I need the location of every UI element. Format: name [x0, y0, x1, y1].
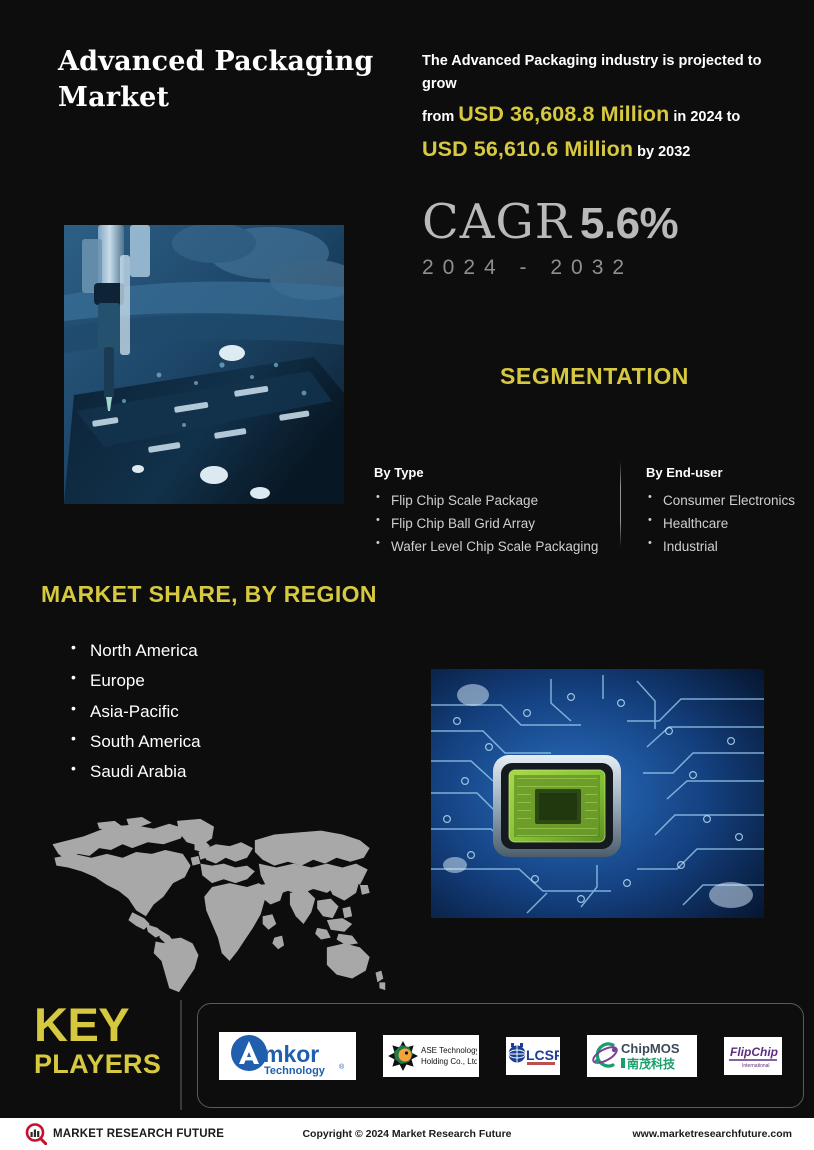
projection-statement: The Advanced Packaging industry is proje… [422, 50, 790, 167]
market-research-future-logo-icon [25, 1123, 47, 1145]
region-heading: MARKET SHARE, BY REGION [41, 581, 377, 608]
segmentation-column-by-end-user: By End-user Consumer Electronics Healthc… [646, 465, 796, 559]
svg-text:ASE Technology: ASE Technology [421, 1046, 477, 1055]
projection-end-label: by 2032 [637, 144, 690, 160]
segmentation-column-heading: By Type [374, 465, 614, 480]
projection-from-label: from [422, 109, 454, 125]
segmentation-item: Flip Chip Ball Grid Array [374, 512, 614, 535]
segmentation-column-by-type: By Type Flip Chip Scale Package Flip Chi… [374, 465, 614, 559]
microprocessor-illustration [431, 669, 764, 918]
logo-flipchip: FlipChip International [724, 1037, 782, 1075]
page-title: Advanced Packaging Market [58, 44, 398, 116]
svg-text:南茂科技: 南茂科技 [627, 1056, 676, 1071]
lcsp-logo-icon: LCSP [507, 1040, 559, 1072]
amkor-logo-icon: mkor Technology ® [223, 1034, 353, 1078]
cagr-block: CAGR5.6% 2024 - 2032 [422, 198, 678, 280]
svg-text:mkor: mkor [263, 1041, 319, 1067]
svg-text:Technology: Technology [264, 1065, 326, 1077]
microprocessor-photo [431, 669, 764, 918]
pcb-assembly-photo [64, 225, 344, 504]
projection-start-value: USD 36,608.8 Million [458, 102, 669, 126]
segmentation-item: Healthcare [646, 512, 796, 535]
svg-text:Holding Co., Ltd.: Holding Co., Ltd. [421, 1057, 477, 1066]
segmentation-item: Flip Chip Scale Package [374, 489, 614, 512]
key-players-word-bottom: PLAYERS [34, 1052, 161, 1077]
cagr-period: 2024 - 2032 [422, 256, 678, 280]
footer-brand: MARKET RESEARCH FUTURE [25, 1123, 224, 1145]
segmentation-item: Industrial [646, 535, 796, 558]
key-players-word-top: KEY [34, 1003, 161, 1046]
logo-chipmos: ChipMOS 南茂科技 [587, 1035, 697, 1077]
segmentation-heading: SEGMENTATION [422, 363, 767, 390]
svg-text:®: ® [339, 1063, 345, 1071]
cagr-value: 5.6% [580, 199, 678, 248]
logo-ase-technology: ASE Technology Holding Co., Ltd. [383, 1035, 479, 1077]
region-list: North America Europe Asia-Pacific South … [68, 636, 201, 787]
svg-text:International: International [742, 1063, 770, 1069]
region-list-item: South America [68, 727, 201, 757]
region-list-item: Asia-Pacific [68, 697, 201, 727]
flipchip-logo-icon: FlipChip International [726, 1041, 780, 1071]
infographic-page: Advanced Packaging Market The Advanced P… [0, 0, 814, 1150]
world-map [38, 815, 390, 995]
segmentation-divider [620, 460, 621, 548]
region-list-item: Europe [68, 666, 201, 696]
region-list-item: North America [68, 636, 201, 666]
footer-brand-text: MARKET RESEARCH FUTURE [53, 1128, 224, 1140]
world-map-silhouette [38, 815, 390, 995]
cagr-line: CAGR5.6% [422, 198, 678, 246]
key-players-label: KEY PLAYERS [34, 1003, 161, 1077]
region-list-item: Saudi Arabia [68, 757, 201, 787]
segmentation-item: Consumer Electronics [646, 489, 796, 512]
footer-url[interactable]: www.marketresearchfuture.com [632, 1128, 792, 1140]
projection-mid-label: in 2024 to [673, 109, 740, 125]
ase-technology-logo-icon: ASE Technology Holding Co., Ltd. [385, 1037, 477, 1075]
segmentation-column-heading: By End-user [646, 465, 796, 480]
chipmos-logo-icon: ChipMOS 南茂科技 [590, 1038, 694, 1074]
pcb-assembly-illustration [64, 225, 344, 504]
svg-text:LCSP: LCSP [526, 1047, 559, 1063]
svg-text:ChipMOS: ChipMOS [621, 1041, 680, 1056]
segmentation-item: Wafer Level Chip Scale Packaging [374, 535, 614, 558]
key-players-divider [180, 1000, 182, 1110]
cagr-label: CAGR [422, 194, 572, 250]
logo-lcsp: LCSP [506, 1037, 560, 1075]
logo-amkor: mkor Technology ® [219, 1032, 356, 1080]
footer-copyright: Copyright © 2024 Market Research Future [302, 1128, 511, 1140]
key-players-logo-box: mkor Technology ® ASE Technology Holding… [197, 1003, 804, 1108]
projection-lead: The Advanced Packaging industry is proje… [422, 53, 761, 92]
svg-text:FlipChip: FlipChip [730, 1045, 778, 1059]
projection-end-value: USD 56,610.6 Million [422, 137, 633, 161]
footer-bar: MARKET RESEARCH FUTURE Copyright © 2024 … [0, 1118, 814, 1150]
